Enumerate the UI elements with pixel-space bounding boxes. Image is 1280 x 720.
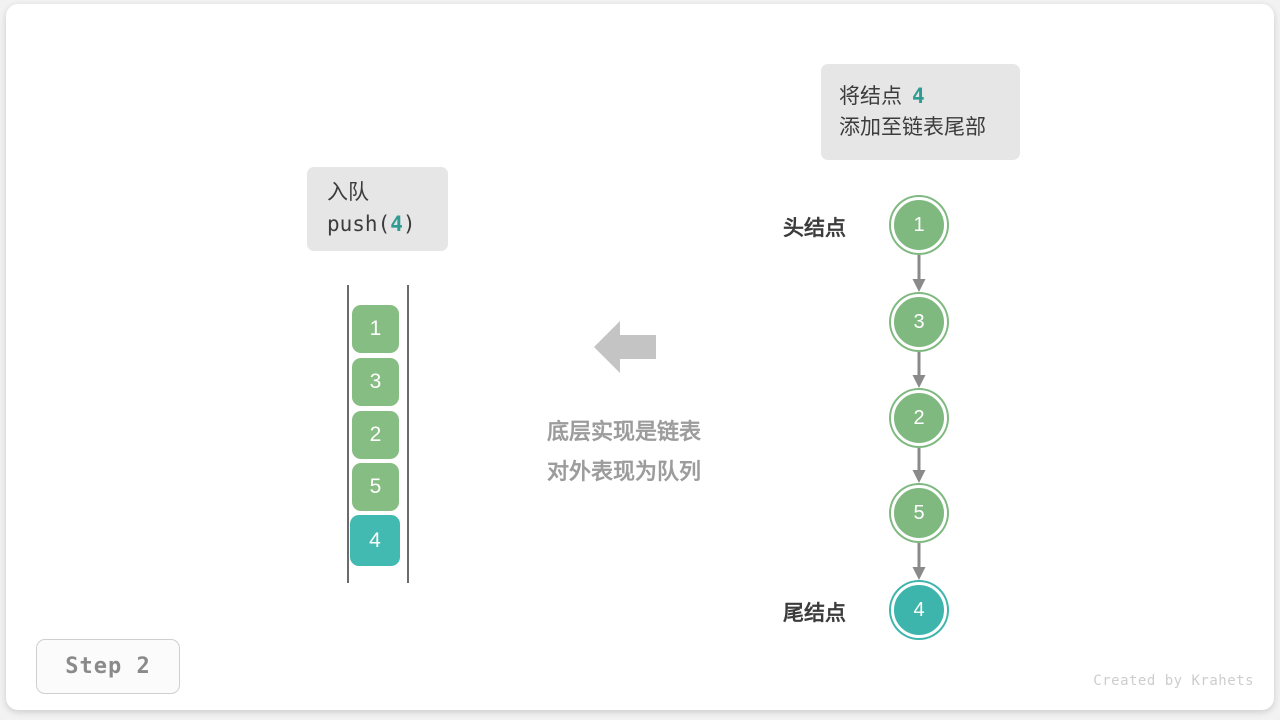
queue-item-value: 1 <box>370 317 382 341</box>
queue-rail-right <box>407 285 409 583</box>
queue-item-value: 5 <box>370 475 382 499</box>
append-value: 4 <box>912 84 925 108</box>
left-arrow-icon <box>594 320 656 374</box>
note-line2: 对外表现为队列 <box>499 452 749 492</box>
callout-push-line2: push(4) <box>327 209 428 240</box>
step-badge: Step 2 <box>36 639 180 694</box>
link-arrow-down-icon <box>910 543 928 580</box>
callout-append: 将结点4 添加至链表尾部 <box>821 64 1020 160</box>
append-prefix: 将结点 <box>839 85 902 108</box>
queue-item-value: 4 <box>369 529 381 553</box>
link-arrow-down-icon <box>910 352 928 388</box>
head-node-label: 头结点 <box>783 212 846 242</box>
list-node-value: 1 <box>913 214 924 237</box>
list-node-3: 3 <box>891 294 947 350</box>
list-node-4: 4 <box>891 582 947 638</box>
push-value: 4 <box>390 212 403 236</box>
queue-item-4: 4 <box>350 515 400 566</box>
link-arrow-down-icon <box>910 255 928 292</box>
queue-item-3: 3 <box>352 358 399 406</box>
note-text: 底层实现是链表 对外表现为队列 <box>499 412 749 491</box>
list-node-1: 1 <box>891 197 947 253</box>
queue-rail-left <box>347 285 349 583</box>
queue-item-value: 3 <box>370 370 382 394</box>
note-line1: 底层实现是链表 <box>499 412 749 452</box>
tail-node-label: 尾结点 <box>783 597 846 627</box>
list-node-2: 2 <box>891 390 947 446</box>
list-node-value: 5 <box>913 502 924 525</box>
figure-canvas: 入队 push(4) 将结点4 添加至链表尾部 13254 底层实现是链表 对外… <box>0 0 1280 720</box>
callout-push: 入队 push(4) <box>307 167 448 251</box>
queue-item-5: 5 <box>352 463 399 511</box>
credit-text: Created by Krahets <box>1093 673 1254 689</box>
list-node-5: 5 <box>891 485 947 541</box>
callout-append-line2: 添加至链表尾部 <box>839 113 1002 143</box>
list-node-value: 3 <box>913 311 924 334</box>
callout-push-line1: 入队 <box>327 178 428 208</box>
link-arrow-down-icon <box>910 448 928 483</box>
queue-item-2: 2 <box>352 411 399 459</box>
queue-item-1: 1 <box>352 305 399 353</box>
list-node-value: 4 <box>913 599 924 622</box>
push-suffix: ) <box>403 212 416 236</box>
push-prefix: push( <box>327 212 390 236</box>
list-node-value: 2 <box>913 407 924 430</box>
queue-item-value: 2 <box>370 423 382 447</box>
callout-append-line1: 将结点4 <box>839 81 1002 112</box>
